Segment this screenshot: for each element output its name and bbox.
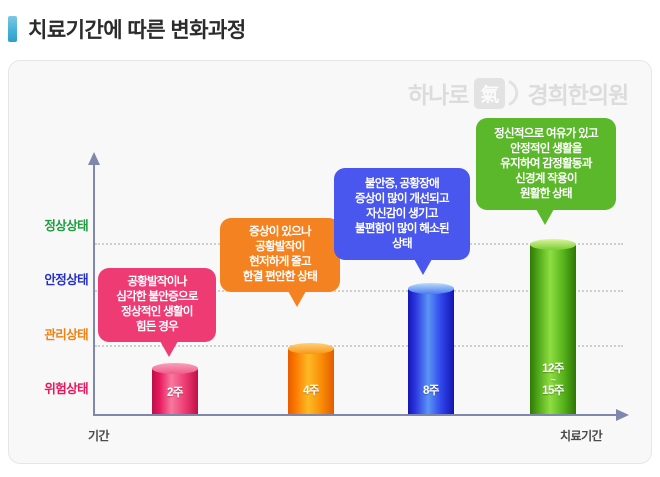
callout-text-week8: 불안증, 공황장애 증상이 많이 개선되고 자신감이 생기고 불편함이 많이 해… — [355, 177, 449, 252]
qi-seal-icon: 氣 — [474, 78, 505, 109]
callout-tail-week4-icon — [288, 291, 306, 307]
y-tick-label: 관리상태 — [10, 324, 88, 343]
y-tick-label: 위험상태 — [10, 378, 88, 397]
callout-line: 자신감이 생기고 — [355, 207, 449, 222]
bar-label-week4: 4주 — [288, 386, 334, 397]
callout-line: 원활한 상태 — [494, 187, 598, 202]
callout-text-week4: 증상이 있으나 공황발작이 현저하게 줄고 한결 편안한 상태 — [243, 225, 317, 285]
bar-cap-icon — [288, 343, 334, 354]
page-header: 치료기간에 따른 변화과정 — [0, 0, 660, 58]
callout-line: 안정적인 생활을 — [494, 142, 598, 157]
callout-line: 현저하게 줄고 — [243, 255, 317, 270]
callout-line: 증상이 있으나 — [243, 225, 317, 240]
callout-line: 공황발작이 — [243, 240, 317, 255]
callout-line: 정상적인 생활이 — [116, 305, 198, 320]
callout-week4[interactable]: 증상이 있으나 공황발작이 현저하게 줄고 한결 편안한 상태 — [220, 218, 340, 292]
y-tick-label: 안정상태 — [10, 269, 88, 288]
callout-week12-15[interactable]: 정신적으로 여유가 있고 안정적인 생활을 유지하여 감정활동과 신경계 작용이… — [476, 118, 616, 210]
bar-cap-icon — [152, 363, 198, 374]
callout-line: 불편함이 많이 해소된 — [355, 222, 449, 237]
clinic-logo-watermark: 하나로 氣 경희한의원 — [408, 76, 644, 110]
bar-label-week8: 8주 — [408, 386, 454, 397]
x-axis-arrow-icon — [616, 409, 629, 421]
logo-left-text: 하나로 — [408, 76, 468, 110]
swoosh-icon — [508, 80, 521, 106]
callout-tail-week12-15-icon — [536, 209, 554, 225]
callout-line: 상태 — [355, 237, 449, 252]
title-accent-bar — [8, 16, 17, 42]
callout-line: 유지하여 감정활동과 — [494, 157, 598, 172]
callout-line: 힘든 경우 — [116, 320, 198, 335]
bar-label-week12-15-line3: 15주 — [530, 386, 576, 397]
y-axis-arrow-icon — [88, 152, 100, 165]
bar-week12-15[interactable]: 12주 ~ 15주 — [530, 244, 576, 414]
y-tick-label: 정상상태 — [10, 215, 88, 234]
y-axis-line — [93, 164, 95, 415]
bar-week2[interactable]: 2주 — [152, 368, 198, 414]
callout-week8[interactable]: 불안증, 공황장애 증상이 많이 개선되고 자신감이 생기고 불편함이 많이 해… — [334, 168, 470, 260]
x-axis-left-label: 기간 — [88, 427, 109, 444]
bar-label-week2: 2주 — [152, 388, 198, 399]
x-axis-right-label: 치료기간 — [560, 427, 602, 444]
bar-cap-icon — [408, 283, 454, 294]
callout-text-week12-15: 정신적으로 여유가 있고 안정적인 생활을 유지하여 감정활동과 신경계 작용이… — [494, 127, 598, 202]
bar-cap-icon — [530, 239, 576, 250]
callout-line: 정신적으로 여유가 있고 — [494, 127, 598, 142]
bar-label-week12-15-line1: 12주 — [530, 364, 576, 375]
callout-line: 증상이 많이 개선되고 — [355, 192, 449, 207]
callout-line: 한결 편안한 상태 — [243, 270, 317, 285]
callout-line: 심각한 불안증으로 — [116, 290, 198, 305]
page-title: 치료기간에 따른 변화과정 — [28, 14, 246, 44]
callout-tail-week2-icon — [160, 341, 178, 357]
callout-line: 공황발작이나 — [116, 275, 198, 290]
callout-text-week2: 공황발작이나 심각한 불안증으로 정상적인 생활이 힘든 경우 — [116, 275, 198, 335]
callout-line: 불안증, 공황장애 — [355, 177, 449, 192]
callout-week2[interactable]: 공황발작이나 심각한 불안증으로 정상적인 생활이 힘든 경우 — [98, 268, 216, 342]
logo-right-text: 경희한의원 — [527, 76, 628, 110]
callout-line: 신경계 작용이 — [494, 172, 598, 187]
bar-week4[interactable]: 4주 — [288, 348, 334, 414]
callout-tail-week8-icon — [414, 259, 432, 275]
x-axis-line — [93, 414, 617, 416]
bar-week8[interactable]: 8주 — [408, 288, 454, 414]
